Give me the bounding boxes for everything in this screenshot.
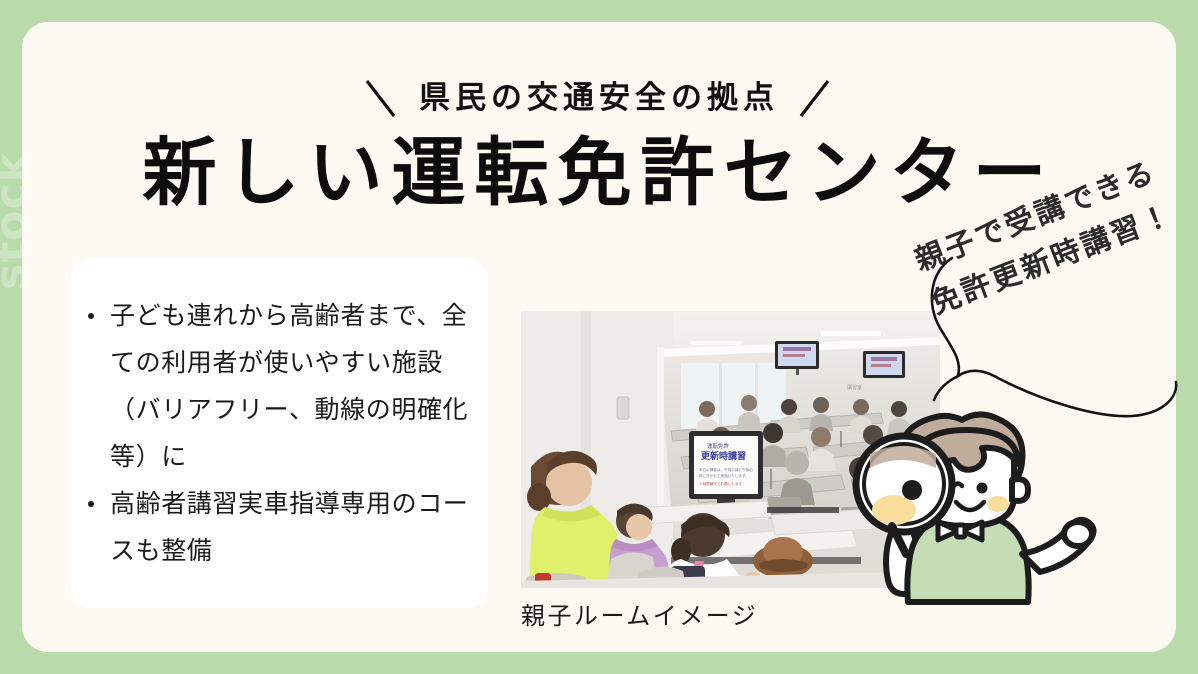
svg-text:講習室: 講習室 [847, 384, 862, 391]
mascot-illustration [836, 406, 1098, 618]
backslash-mark-icon [361, 76, 403, 120]
svg-text:部に分かれて実施いたします。: 部に分かれて実施いたします。 [699, 473, 749, 478]
svg-text:※時間厳守でお願いします: ※時間厳守でお願いします [699, 481, 743, 486]
subtitle-text: 県民の交通安全の拠点 [419, 83, 779, 114]
svg-text:本日の講習は、午前の部と午後の: 本日の講習は、午前の部と午後の [699, 467, 753, 472]
svg-text:更新時講習: 更新時講習 [701, 450, 746, 461]
list-item: 子ども連れから高齢者まで、全ての利用者が使いやすい施設（バリアフリー、動線の明確… [84, 292, 484, 480]
slash-mark-icon [795, 76, 837, 120]
subtitle-row: 県民の交通安全の拠点 [0, 76, 1198, 120]
list-item: 高齢者講習実車指導専用のコースも整備 [84, 480, 484, 574]
feature-list: 子ども連れから高齢者まで、全ての利用者が使いやすい施設（バリアフリー、動線の明確… [84, 292, 484, 574]
slide-root: stock 県民の交通安全の拠点 新しい運転免許センター 子ども連れから高齢者ま… [0, 0, 1198, 674]
photo-caption: 親子ルームイメージ [521, 596, 758, 631]
magnifying-glass-character [836, 406, 1098, 618]
svg-text:運転免許: 運転免許 [707, 442, 730, 450]
